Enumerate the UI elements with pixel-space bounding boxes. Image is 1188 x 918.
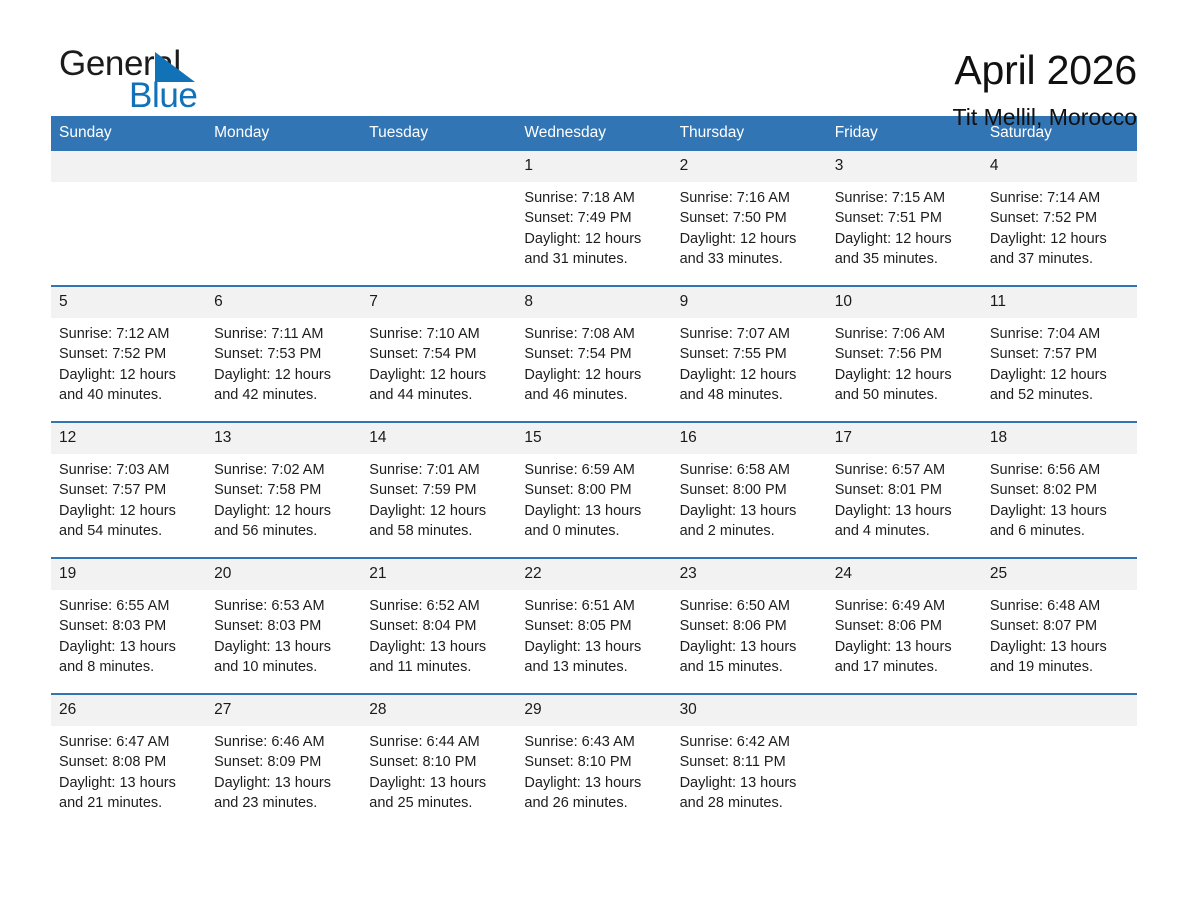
day-details: Sunrise: 6:46 AMSunset: 8:09 PMDaylight:… — [206, 726, 361, 813]
sunset-text: Sunset: 8:01 PM — [835, 480, 972, 500]
sunrise-text: Sunrise: 6:52 AM — [369, 596, 506, 616]
daylight-text-line1: Daylight: 13 hours — [214, 773, 351, 793]
calendar-day-cell-empty — [361, 151, 516, 285]
day-details: Sunrise: 6:55 AMSunset: 8:03 PMDaylight:… — [51, 590, 206, 677]
daylight-text-line2: and 44 minutes. — [369, 385, 506, 405]
daylight-text-line1: Daylight: 12 hours — [680, 365, 817, 385]
day-details: Sunrise: 6:47 AMSunset: 8:08 PMDaylight:… — [51, 726, 206, 813]
calendar-week-row: 26Sunrise: 6:47 AMSunset: 8:08 PMDayligh… — [51, 693, 1137, 829]
weekday-header-sunday: Sunday — [51, 116, 206, 151]
calendar-day-cell[interactable]: 19Sunrise: 6:55 AMSunset: 8:03 PMDayligh… — [51, 559, 206, 693]
day-details: Sunrise: 7:03 AMSunset: 7:57 PMDaylight:… — [51, 454, 206, 541]
weekday-header-thursday: Thursday — [672, 116, 827, 151]
day-number: 18 — [982, 423, 1137, 454]
calendar-week-row: 5Sunrise: 7:12 AMSunset: 7:52 PMDaylight… — [51, 285, 1137, 421]
calendar-day-cell[interactable]: 9Sunrise: 7:07 AMSunset: 7:55 PMDaylight… — [672, 287, 827, 421]
day-details: Sunrise: 6:52 AMSunset: 8:04 PMDaylight:… — [361, 590, 516, 677]
day-details: Sunrise: 6:43 AMSunset: 8:10 PMDaylight:… — [516, 726, 671, 813]
daylight-text-line2: and 48 minutes. — [680, 385, 817, 405]
day-number: 11 — [982, 287, 1137, 318]
weekday-header-friday: Friday — [827, 116, 982, 151]
sunrise-text: Sunrise: 7:18 AM — [524, 188, 661, 208]
calendar-day-cell[interactable]: 21Sunrise: 6:52 AMSunset: 8:04 PMDayligh… — [361, 559, 516, 693]
sunset-text: Sunset: 7:57 PM — [990, 344, 1127, 364]
day-number: 26 — [51, 695, 206, 726]
day-details: Sunrise: 6:53 AMSunset: 8:03 PMDaylight:… — [206, 590, 361, 677]
daylight-text-line1: Daylight: 12 hours — [214, 365, 351, 385]
day-details: Sunrise: 6:44 AMSunset: 8:10 PMDaylight:… — [361, 726, 516, 813]
sunrise-text: Sunrise: 6:46 AM — [214, 732, 351, 752]
daylight-text-line1: Daylight: 13 hours — [680, 773, 817, 793]
calendar-week-row: 12Sunrise: 7:03 AMSunset: 7:57 PMDayligh… — [51, 421, 1137, 557]
sunset-text: Sunset: 8:00 PM — [680, 480, 817, 500]
daylight-text-line1: Daylight: 13 hours — [59, 637, 196, 657]
calendar-day-cell[interactable]: 24Sunrise: 6:49 AMSunset: 8:06 PMDayligh… — [827, 559, 982, 693]
daylight-text-line2: and 28 minutes. — [680, 793, 817, 813]
calendar-day-cell[interactable]: 4Sunrise: 7:14 AMSunset: 7:52 PMDaylight… — [982, 151, 1137, 285]
day-details: Sunrise: 6:49 AMSunset: 8:06 PMDaylight:… — [827, 590, 982, 677]
daylight-text-line2: and 6 minutes. — [990, 521, 1127, 541]
calendar-day-cell[interactable]: 26Sunrise: 6:47 AMSunset: 8:08 PMDayligh… — [51, 695, 206, 829]
page-title: April 2026 — [953, 46, 1137, 94]
day-number: 9 — [672, 287, 827, 318]
sunset-text: Sunset: 7:52 PM — [59, 344, 196, 364]
day-number: 23 — [672, 559, 827, 590]
sunrise-text: Sunrise: 6:51 AM — [524, 596, 661, 616]
day-details: Sunrise: 7:04 AMSunset: 7:57 PMDaylight:… — [982, 318, 1137, 405]
sunset-text: Sunset: 7:56 PM — [835, 344, 972, 364]
daylight-text-line1: Daylight: 12 hours — [369, 365, 506, 385]
daylight-text-line2: and 50 minutes. — [835, 385, 972, 405]
day-number: 17 — [827, 423, 982, 454]
sunrise-text: Sunrise: 7:12 AM — [59, 324, 196, 344]
sunrise-text: Sunrise: 7:14 AM — [990, 188, 1127, 208]
daylight-text-line2: and 46 minutes. — [524, 385, 661, 405]
daylight-text-line1: Daylight: 12 hours — [524, 229, 661, 249]
day-details: Sunrise: 7:11 AMSunset: 7:53 PMDaylight:… — [206, 318, 361, 405]
daylight-text-line1: Daylight: 13 hours — [369, 637, 506, 657]
daylight-text-line1: Daylight: 13 hours — [524, 637, 661, 657]
day-number: 19 — [51, 559, 206, 590]
daylight-text-line1: Daylight: 12 hours — [369, 501, 506, 521]
weekday-header-monday: Monday — [206, 116, 361, 151]
calendar-day-cell[interactable]: 6Sunrise: 7:11 AMSunset: 7:53 PMDaylight… — [206, 287, 361, 421]
day-details: Sunrise: 7:02 AMSunset: 7:58 PMDaylight:… — [206, 454, 361, 541]
calendar-day-cell-empty — [206, 151, 361, 285]
calendar-day-cell[interactable]: 10Sunrise: 7:06 AMSunset: 7:56 PMDayligh… — [827, 287, 982, 421]
sunset-text: Sunset: 7:53 PM — [214, 344, 351, 364]
calendar-day-cell[interactable]: 5Sunrise: 7:12 AMSunset: 7:52 PMDaylight… — [51, 287, 206, 421]
sunset-text: Sunset: 8:08 PM — [59, 752, 196, 772]
calendar-weeks: 1Sunrise: 7:18 AMSunset: 7:49 PMDaylight… — [51, 151, 1137, 829]
daylight-text-line1: Daylight: 12 hours — [680, 229, 817, 249]
sunrise-text: Sunrise: 6:44 AM — [369, 732, 506, 752]
day-number — [982, 695, 1137, 726]
daylight-text-line1: Daylight: 12 hours — [524, 365, 661, 385]
calendar-day-cell[interactable]: 2Sunrise: 7:16 AMSunset: 7:50 PMDaylight… — [672, 151, 827, 285]
day-number: 15 — [516, 423, 671, 454]
daylight-text-line2: and 40 minutes. — [59, 385, 196, 405]
sunrise-text: Sunrise: 6:42 AM — [680, 732, 817, 752]
general-blue-logo[interactable]: General Blue — [51, 44, 251, 118]
sunset-text: Sunset: 8:07 PM — [990, 616, 1127, 636]
sunset-text: Sunset: 7:52 PM — [990, 208, 1127, 228]
daylight-text-line2: and 25 minutes. — [369, 793, 506, 813]
sunset-text: Sunset: 8:10 PM — [524, 752, 661, 772]
daylight-text-line1: Daylight: 12 hours — [59, 501, 196, 521]
page-header: General Blue April 2026 Tit Mellil, Moro… — [51, 0, 1137, 105]
sunrise-text: Sunrise: 6:58 AM — [680, 460, 817, 480]
sunrise-text: Sunrise: 7:15 AM — [835, 188, 972, 208]
daylight-text-line2: and 0 minutes. — [524, 521, 661, 541]
daylight-text-line1: Daylight: 13 hours — [835, 637, 972, 657]
day-details: Sunrise: 6:56 AMSunset: 8:02 PMDaylight:… — [982, 454, 1137, 541]
sunset-text: Sunset: 7:58 PM — [214, 480, 351, 500]
calendar-day-cell[interactable]: 13Sunrise: 7:02 AMSunset: 7:58 PMDayligh… — [206, 423, 361, 557]
day-number: 21 — [361, 559, 516, 590]
daylight-text-line2: and 35 minutes. — [835, 249, 972, 269]
sunrise-text: Sunrise: 7:02 AM — [214, 460, 351, 480]
calendar-day-cell[interactable]: 15Sunrise: 6:59 AMSunset: 8:00 PMDayligh… — [516, 423, 671, 557]
day-number: 25 — [982, 559, 1137, 590]
day-number — [361, 151, 516, 182]
sunset-text: Sunset: 8:00 PM — [524, 480, 661, 500]
calendar-day-cell[interactable]: 12Sunrise: 7:03 AMSunset: 7:57 PMDayligh… — [51, 423, 206, 557]
calendar-day-cell[interactable]: 23Sunrise: 6:50 AMSunset: 8:06 PMDayligh… — [672, 559, 827, 693]
sunset-text: Sunset: 7:51 PM — [835, 208, 972, 228]
daylight-text-line2: and 13 minutes. — [524, 657, 661, 677]
day-details: Sunrise: 7:16 AMSunset: 7:50 PMDaylight:… — [672, 182, 827, 269]
daylight-text-line1: Daylight: 13 hours — [59, 773, 196, 793]
day-number: 4 — [982, 151, 1137, 182]
daylight-text-line1: Daylight: 12 hours — [214, 501, 351, 521]
day-number: 5 — [51, 287, 206, 318]
day-details: Sunrise: 6:58 AMSunset: 8:00 PMDaylight:… — [672, 454, 827, 541]
daylight-text-line2: and 10 minutes. — [214, 657, 351, 677]
day-number — [206, 151, 361, 182]
sunrise-text: Sunrise: 7:10 AM — [369, 324, 506, 344]
sunrise-text: Sunrise: 7:01 AM — [369, 460, 506, 480]
sunset-text: Sunset: 8:03 PM — [214, 616, 351, 636]
calendar-page: General Blue April 2026 Tit Mellil, Moro… — [0, 0, 1188, 918]
daylight-text-line2: and 33 minutes. — [680, 249, 817, 269]
sunset-text: Sunset: 8:11 PM — [680, 752, 817, 772]
day-number: 8 — [516, 287, 671, 318]
daylight-text-line2: and 4 minutes. — [835, 521, 972, 541]
day-number — [51, 151, 206, 182]
daylight-text-line2: and 42 minutes. — [214, 385, 351, 405]
day-details: Sunrise: 7:14 AMSunset: 7:52 PMDaylight:… — [982, 182, 1137, 269]
daylight-text-line1: Daylight: 13 hours — [214, 637, 351, 657]
calendar-day-cell[interactable]: 8Sunrise: 7:08 AMSunset: 7:54 PMDaylight… — [516, 287, 671, 421]
daylight-text-line2: and 19 minutes. — [990, 657, 1127, 677]
daylight-text-line1: Daylight: 13 hours — [524, 773, 661, 793]
sunrise-text: Sunrise: 7:04 AM — [990, 324, 1127, 344]
calendar-week-row: 1Sunrise: 7:18 AMSunset: 7:49 PMDaylight… — [51, 151, 1137, 285]
daylight-text-line2: and 52 minutes. — [990, 385, 1127, 405]
calendar-day-cell[interactable]: 3Sunrise: 7:15 AMSunset: 7:51 PMDaylight… — [827, 151, 982, 285]
calendar-day-cell[interactable]: 11Sunrise: 7:04 AMSunset: 7:57 PMDayligh… — [982, 287, 1137, 421]
daylight-text-line2: and 54 minutes. — [59, 521, 196, 541]
day-number: 27 — [206, 695, 361, 726]
sunrise-text: Sunrise: 7:16 AM — [680, 188, 817, 208]
day-details: Sunrise: 6:51 AMSunset: 8:05 PMDaylight:… — [516, 590, 671, 677]
calendar-day-cell[interactable]: 22Sunrise: 6:51 AMSunset: 8:05 PMDayligh… — [516, 559, 671, 693]
day-details: Sunrise: 7:18 AMSunset: 7:49 PMDaylight:… — [516, 182, 671, 269]
daylight-text-line2: and 26 minutes. — [524, 793, 661, 813]
logo-text-blue: Blue — [129, 76, 197, 116]
sunrise-text: Sunrise: 6:55 AM — [59, 596, 196, 616]
day-number: 16 — [672, 423, 827, 454]
sunset-text: Sunset: 8:04 PM — [369, 616, 506, 636]
day-number: 2 — [672, 151, 827, 182]
daylight-text-line2: and 56 minutes. — [214, 521, 351, 541]
daylight-text-line1: Daylight: 13 hours — [680, 637, 817, 657]
day-number: 3 — [827, 151, 982, 182]
calendar-day-cell[interactable]: 14Sunrise: 7:01 AMSunset: 7:59 PMDayligh… — [361, 423, 516, 557]
sunset-text: Sunset: 8:03 PM — [59, 616, 196, 636]
day-number — [827, 695, 982, 726]
sunset-text: Sunset: 8:10 PM — [369, 752, 506, 772]
day-number: 24 — [827, 559, 982, 590]
daylight-text-line2: and 31 minutes. — [524, 249, 661, 269]
daylight-text-line1: Daylight: 13 hours — [835, 501, 972, 521]
daylight-text-line2: and 37 minutes. — [990, 249, 1127, 269]
sunset-text: Sunset: 7:50 PM — [680, 208, 817, 228]
day-details: Sunrise: 6:59 AMSunset: 8:00 PMDaylight:… — [516, 454, 671, 541]
daylight-text-line1: Daylight: 13 hours — [524, 501, 661, 521]
calendar-day-cell-empty — [827, 695, 982, 829]
calendar-day-cell[interactable]: 30Sunrise: 6:42 AMSunset: 8:11 PMDayligh… — [672, 695, 827, 829]
day-details: Sunrise: 7:12 AMSunset: 7:52 PMDaylight:… — [51, 318, 206, 405]
day-number: 10 — [827, 287, 982, 318]
daylight-text-line1: Daylight: 13 hours — [990, 637, 1127, 657]
sunrise-text: Sunrise: 7:08 AM — [524, 324, 661, 344]
weekday-header-row: Sunday Monday Tuesday Wednesday Thursday… — [51, 116, 1137, 151]
sunrise-text: Sunrise: 7:11 AM — [214, 324, 351, 344]
day-number: 7 — [361, 287, 516, 318]
calendar-day-cell[interactable]: 17Sunrise: 6:57 AMSunset: 8:01 PMDayligh… — [827, 423, 982, 557]
daylight-text-line1: Daylight: 13 hours — [369, 773, 506, 793]
calendar-day-cell[interactable]: 27Sunrise: 6:46 AMSunset: 8:09 PMDayligh… — [206, 695, 361, 829]
sunset-text: Sunset: 8:09 PM — [214, 752, 351, 772]
calendar-grid: Sunday Monday Tuesday Wednesday Thursday… — [51, 116, 1137, 829]
calendar-day-cell[interactable]: 16Sunrise: 6:58 AMSunset: 8:00 PMDayligh… — [672, 423, 827, 557]
day-details: Sunrise: 7:10 AMSunset: 7:54 PMDaylight:… — [361, 318, 516, 405]
sunset-text: Sunset: 8:02 PM — [990, 480, 1127, 500]
daylight-text-line1: Daylight: 12 hours — [990, 365, 1127, 385]
day-number: 22 — [516, 559, 671, 590]
weekday-header-saturday: Saturday — [982, 116, 1137, 151]
day-details: Sunrise: 6:57 AMSunset: 8:01 PMDaylight:… — [827, 454, 982, 541]
day-details: Sunrise: 7:01 AMSunset: 7:59 PMDaylight:… — [361, 454, 516, 541]
calendar-day-cell-empty — [982, 695, 1137, 829]
sunset-text: Sunset: 7:54 PM — [524, 344, 661, 364]
calendar-week-row: 19Sunrise: 6:55 AMSunset: 8:03 PMDayligh… — [51, 557, 1137, 693]
daylight-text-line1: Daylight: 12 hours — [59, 365, 196, 385]
day-details: Sunrise: 7:15 AMSunset: 7:51 PMDaylight:… — [827, 182, 982, 269]
daylight-text-line2: and 21 minutes. — [59, 793, 196, 813]
day-number: 6 — [206, 287, 361, 318]
daylight-text-line1: Daylight: 12 hours — [835, 229, 972, 249]
day-details: Sunrise: 6:50 AMSunset: 8:06 PMDaylight:… — [672, 590, 827, 677]
sunset-text: Sunset: 8:06 PM — [835, 616, 972, 636]
daylight-text-line2: and 23 minutes. — [214, 793, 351, 813]
sunset-text: Sunset: 7:59 PM — [369, 480, 506, 500]
sunrise-text: Sunrise: 7:06 AM — [835, 324, 972, 344]
calendar-day-cell[interactable]: 25Sunrise: 6:48 AMSunset: 8:07 PMDayligh… — [982, 559, 1137, 693]
calendar-day-cell[interactable]: 7Sunrise: 7:10 AMSunset: 7:54 PMDaylight… — [361, 287, 516, 421]
sunset-text: Sunset: 8:06 PM — [680, 616, 817, 636]
calendar-day-cell[interactable]: 28Sunrise: 6:44 AMSunset: 8:10 PMDayligh… — [361, 695, 516, 829]
sunset-text: Sunset: 7:49 PM — [524, 208, 661, 228]
sunrise-text: Sunrise: 6:49 AM — [835, 596, 972, 616]
daylight-text-line2: and 58 minutes. — [369, 521, 506, 541]
daylight-text-line2: and 15 minutes. — [680, 657, 817, 677]
daylight-text-line1: Daylight: 13 hours — [990, 501, 1127, 521]
sunrise-text: Sunrise: 6:57 AM — [835, 460, 972, 480]
daylight-text-line2: and 2 minutes. — [680, 521, 817, 541]
daylight-text-line1: Daylight: 13 hours — [680, 501, 817, 521]
sunrise-text: Sunrise: 6:47 AM — [59, 732, 196, 752]
daylight-text-line2: and 17 minutes. — [835, 657, 972, 677]
day-details: Sunrise: 6:48 AMSunset: 8:07 PMDaylight:… — [982, 590, 1137, 677]
sunset-text: Sunset: 7:54 PM — [369, 344, 506, 364]
sunrise-text: Sunrise: 6:50 AM — [680, 596, 817, 616]
daylight-text-line1: Daylight: 12 hours — [990, 229, 1127, 249]
sunrise-text: Sunrise: 7:07 AM — [680, 324, 817, 344]
sunset-text: Sunset: 8:05 PM — [524, 616, 661, 636]
sunrise-text: Sunrise: 6:56 AM — [990, 460, 1127, 480]
day-number: 30 — [672, 695, 827, 726]
calendar-day-cell[interactable]: 18Sunrise: 6:56 AMSunset: 8:02 PMDayligh… — [982, 423, 1137, 557]
day-number: 28 — [361, 695, 516, 726]
weekday-header-wednesday: Wednesday — [516, 116, 671, 151]
sunset-text: Sunset: 7:57 PM — [59, 480, 196, 500]
sunrise-text: Sunrise: 6:53 AM — [214, 596, 351, 616]
day-number: 12 — [51, 423, 206, 454]
weekday-header-tuesday: Tuesday — [361, 116, 516, 151]
sunrise-text: Sunrise: 6:43 AM — [524, 732, 661, 752]
day-details: Sunrise: 7:08 AMSunset: 7:54 PMDaylight:… — [516, 318, 671, 405]
calendar-day-cell[interactable]: 29Sunrise: 6:43 AMSunset: 8:10 PMDayligh… — [516, 695, 671, 829]
calendar-day-cell[interactable]: 20Sunrise: 6:53 AMSunset: 8:03 PMDayligh… — [206, 559, 361, 693]
daylight-text-line2: and 11 minutes. — [369, 657, 506, 677]
calendar-day-cell[interactable]: 1Sunrise: 7:18 AMSunset: 7:49 PMDaylight… — [516, 151, 671, 285]
sunrise-text: Sunrise: 6:48 AM — [990, 596, 1127, 616]
calendar-day-cell-empty — [51, 151, 206, 285]
day-number: 1 — [516, 151, 671, 182]
sunrise-text: Sunrise: 6:59 AM — [524, 460, 661, 480]
daylight-text-line1: Daylight: 12 hours — [835, 365, 972, 385]
daylight-text-line2: and 8 minutes. — [59, 657, 196, 677]
day-details: Sunrise: 7:07 AMSunset: 7:55 PMDaylight:… — [672, 318, 827, 405]
day-number: 13 — [206, 423, 361, 454]
day-number: 20 — [206, 559, 361, 590]
sunset-text: Sunset: 7:55 PM — [680, 344, 817, 364]
day-number: 14 — [361, 423, 516, 454]
day-details: Sunrise: 6:42 AMSunset: 8:11 PMDaylight:… — [672, 726, 827, 813]
sunrise-text: Sunrise: 7:03 AM — [59, 460, 196, 480]
day-details: Sunrise: 7:06 AMSunset: 7:56 PMDaylight:… — [827, 318, 982, 405]
day-number: 29 — [516, 695, 671, 726]
